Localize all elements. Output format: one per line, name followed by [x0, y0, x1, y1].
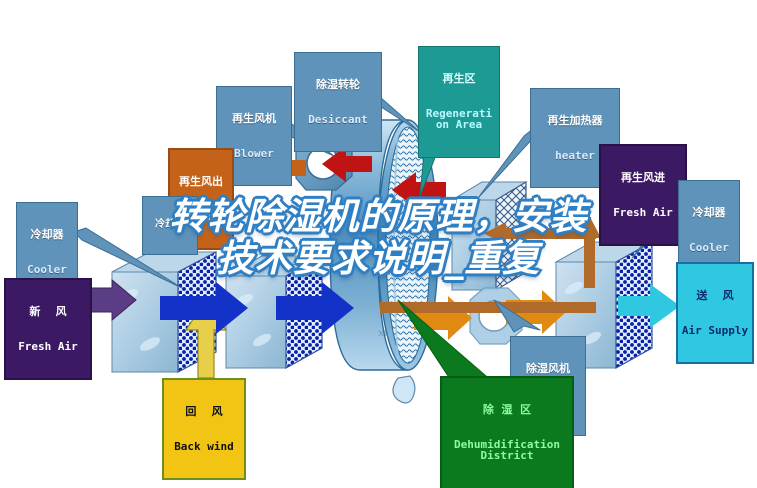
label-cooler-left-cn: 冷却器 [19, 229, 75, 241]
label-regeneration-area-en: Regenerati on Area [421, 108, 497, 131]
label-back-wind-cn: 回 风 [166, 406, 242, 418]
label-air-supply-cn: 送 风 [680, 290, 750, 302]
label-regeneration-area-cn: 再生区 [421, 73, 497, 85]
label-regeneration-area[interactable]: 再生区 Regenerati on Area [418, 46, 500, 158]
label-cooler-left-en: Cooler [19, 264, 75, 276]
label-desiccant-cn: 除湿转轮 [297, 79, 379, 91]
label-dehumid-blower-cn: 除湿风机 [513, 363, 583, 375]
label-back-wind[interactable]: 回 风 Back wind [162, 378, 246, 480]
label-cooler-mid[interactable]: 冷却器 [142, 196, 198, 255]
label-regeneration-heater-cn: 再生加热器 [533, 115, 617, 127]
label-cooler-mid-cn: 冷却器 [145, 220, 195, 231]
label-dehumidification-district[interactable]: 除 湿 区 Dehumidification District [440, 376, 574, 488]
label-air-supply[interactable]: 送 风 Air Supply [676, 262, 754, 364]
label-regen-blower-cn: 再生风机 [219, 113, 289, 125]
label-fresh-air-cn: 新 风 [10, 306, 86, 318]
label-regen-fresh-air-en: Fresh Air [603, 207, 683, 219]
label-dehumidification-district-cn: 除 湿 区 [444, 404, 570, 416]
label-cooler-right-cn: 冷却器 [681, 207, 737, 219]
label-air-supply-en: Air Supply [680, 325, 750, 337]
label-dehumidification-district-en: Dehumidification District [444, 439, 570, 462]
label-cooler-right-en: Cooler [681, 242, 737, 254]
label-desiccant-en: Desiccant [297, 114, 379, 126]
label-fresh-air-en: Fresh Air [10, 341, 86, 353]
svg-text:xt: xt [378, 328, 388, 339]
label-desiccant[interactable]: 除湿转轮 Desiccant [294, 52, 382, 152]
label-regen-fresh-air-cn: 再生风进 [603, 172, 683, 184]
label-exhaust-cn: 再生风出 [172, 176, 230, 188]
label-regen-fresh-air[interactable]: 再生风进 Fresh Air [599, 144, 687, 246]
label-back-wind-en: Back wind [166, 441, 242, 453]
diagram-canvas: xt [0, 0, 757, 488]
label-fresh-air[interactable]: 新 风 Fresh Air [4, 278, 92, 380]
